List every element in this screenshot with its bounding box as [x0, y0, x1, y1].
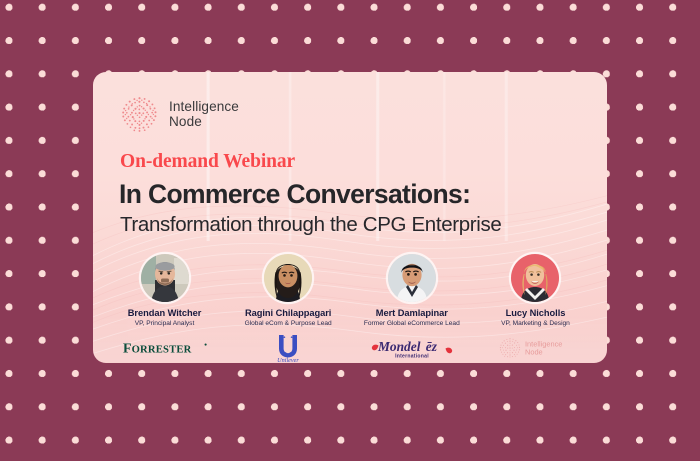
svg-text:Mondel: Mondel	[377, 338, 421, 353]
speaker-title: VP, Principal Analyst	[135, 320, 195, 327]
speaker-card: Brendan Witcher VP, Principal Analyst F …	[103, 254, 226, 361]
speaker-card: Mert Damlapinar Former Global eCommerce …	[350, 254, 473, 361]
intelligence-node-logo: Intelligence Node	[498, 334, 572, 361]
speaker-card: Lucy Nicholls VP, Marketing & Design	[474, 254, 597, 361]
svg-text:F: F	[123, 340, 131, 355]
mondelez-international-logo: Mondel ēz International	[371, 334, 453, 361]
webinar-kicker: On-demand Webinar	[120, 151, 295, 173]
svg-text:Node: Node	[525, 347, 543, 356]
avatar-lucy-nicholls	[511, 254, 559, 302]
intelligence-node-stipple-circle-icon	[119, 94, 160, 135]
svg-text:International: International	[395, 353, 429, 359]
svg-text:ēz: ēz	[426, 338, 438, 353]
page-subtitle: Transformation through the CPG Enterpris…	[120, 213, 501, 237]
avatar-brendan-witcher	[141, 254, 189, 302]
speaker-name: Lucy Nicholls	[506, 308, 566, 318]
brand-logo: Intelligence Node	[119, 94, 239, 135]
speaker-title: VP, Marketing & Design	[501, 320, 570, 327]
avatar-ragini-chilappagari	[264, 254, 312, 302]
speaker-list: Brendan Witcher VP, Principal Analyst F …	[103, 254, 597, 358]
speaker-title: Global eCom & Purpose Lead	[245, 320, 332, 327]
speaker-title: Former Global eCommerce Lead	[364, 320, 460, 327]
webinar-promo-card: Intelligence Node On-demand Webinar In C…	[93, 72, 607, 363]
speaker-name: Brendan Witcher	[128, 308, 202, 318]
svg-text:ORRESTER: ORRESTER	[131, 344, 191, 355]
unilever-u-logo: Unilever	[268, 334, 308, 361]
speaker-name: Ragini Chilappagari	[245, 308, 331, 318]
speaker-name: Mert Damlapinar	[376, 308, 448, 318]
avatar-mert-damlapinar	[388, 254, 436, 302]
page-title: In Commerce Conversations:	[119, 179, 470, 210]
svg-text:Unilever: Unilever	[277, 357, 299, 363]
speaker-card: Ragini Chilappagari Global eCom & Purpos…	[227, 254, 350, 361]
forrester-logo: F ORRESTER	[122, 334, 208, 361]
brand-name-line1: Intelligence	[169, 100, 239, 115]
brand-logo-text: Intelligence Node	[169, 100, 239, 129]
brand-name-line2: Node	[169, 115, 239, 130]
